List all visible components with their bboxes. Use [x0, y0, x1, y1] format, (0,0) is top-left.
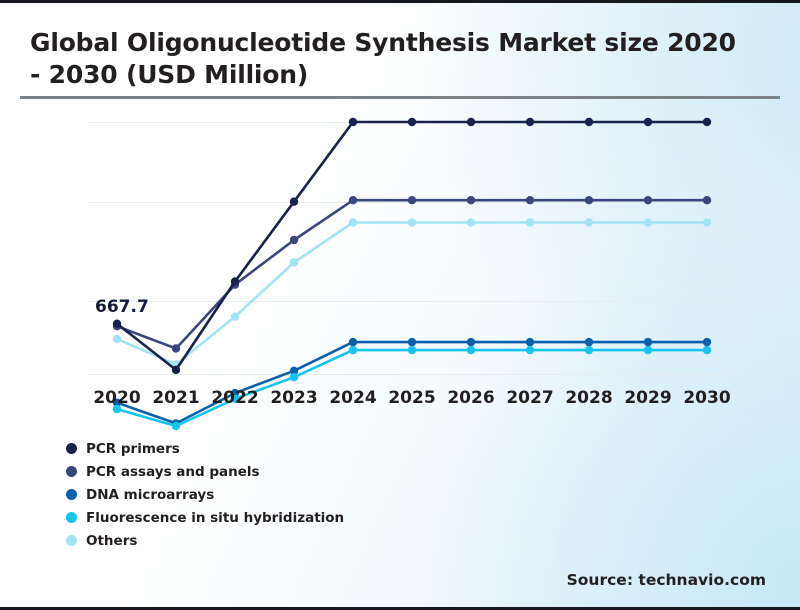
data-point — [290, 236, 298, 244]
data-point — [349, 346, 357, 354]
x-axis-labels: 2020202120222023202420252026202720282029… — [88, 388, 728, 412]
data-point — [290, 258, 298, 266]
data-point — [585, 338, 593, 346]
data-point — [349, 196, 357, 204]
data-point — [467, 196, 475, 204]
data-point — [644, 218, 652, 226]
data-point — [703, 218, 711, 226]
legend-item-label: PCR assays and panels — [86, 464, 260, 480]
legend-swatch-icon — [66, 512, 77, 523]
data-point — [113, 335, 121, 343]
data-point — [467, 118, 475, 126]
legend-item-label: Others — [86, 533, 137, 549]
legend-swatch-icon — [66, 489, 77, 500]
x-tick-2025: 2025 — [388, 388, 435, 408]
data-point — [408, 118, 416, 126]
legend-item-pcr-assays-and-panels[interactable]: PCR assays and panels — [66, 460, 344, 483]
data-point — [231, 277, 239, 285]
legend-item-pcr-primers[interactable]: PCR primers — [66, 437, 344, 460]
data-point — [703, 346, 711, 354]
series-pcr-primers — [113, 118, 711, 374]
x-tick-2023: 2023 — [270, 388, 317, 408]
data-point — [585, 196, 593, 204]
legend-swatch-icon — [66, 466, 77, 477]
data-point — [703, 118, 711, 126]
x-tick-2027: 2027 — [506, 388, 553, 408]
data-point — [467, 218, 475, 226]
data-point — [526, 346, 534, 354]
data-point — [644, 338, 652, 346]
data-point — [703, 196, 711, 204]
source-attribution: Source: technavio.com — [567, 571, 766, 589]
data-point — [290, 373, 298, 381]
data-point — [526, 338, 534, 346]
data-point — [408, 346, 416, 354]
data-point — [585, 218, 593, 226]
legend-item-label: Fluorescence in situ hybridization — [86, 510, 344, 526]
legend-item-label: DNA microarrays — [86, 487, 214, 503]
data-point — [644, 196, 652, 204]
legend-item-dna-microarrays[interactable]: DNA microarrays — [66, 483, 344, 506]
data-point — [467, 346, 475, 354]
data-point — [408, 338, 416, 346]
chart-legend: PCR primersPCR assays and panelsDNA micr… — [66, 437, 344, 552]
data-point — [349, 118, 357, 126]
x-tick-2020: 2020 — [93, 388, 140, 408]
data-point — [172, 366, 180, 374]
data-point — [703, 338, 711, 346]
data-point — [526, 118, 534, 126]
data-point — [349, 218, 357, 226]
x-tick-2024: 2024 — [329, 388, 376, 408]
legend-item-fluorescence-in-situ-hybridization[interactable]: Fluorescence in situ hybridization — [66, 506, 344, 529]
data-point — [231, 312, 239, 320]
data-label-667: 667.7 — [95, 297, 149, 317]
legend-item-others[interactable]: Others — [66, 529, 344, 552]
x-tick-2029: 2029 — [624, 388, 671, 408]
x-tick-2028: 2028 — [565, 388, 612, 408]
data-point — [526, 218, 534, 226]
data-point — [408, 218, 416, 226]
legend-swatch-icon — [66, 443, 77, 454]
x-tick-2026: 2026 — [447, 388, 494, 408]
data-point — [290, 198, 298, 206]
data-point — [408, 196, 416, 204]
legend-item-label: PCR primers — [86, 441, 180, 457]
data-point — [644, 118, 652, 126]
data-point — [644, 346, 652, 354]
data-point — [113, 320, 121, 328]
chart-card: Global Oligonucleotide Synthesis Market … — [0, 0, 800, 610]
data-point — [585, 118, 593, 126]
data-point — [172, 422, 180, 430]
series-line — [117, 122, 707, 370]
x-tick-2030: 2030 — [683, 388, 730, 408]
data-point — [585, 346, 593, 354]
x-tick-2022: 2022 — [211, 388, 258, 408]
data-point — [467, 338, 475, 346]
data-point — [349, 338, 357, 346]
x-tick-2021: 2021 — [152, 388, 199, 408]
data-point — [526, 196, 534, 204]
data-point — [172, 344, 180, 352]
legend-swatch-icon — [66, 535, 77, 546]
